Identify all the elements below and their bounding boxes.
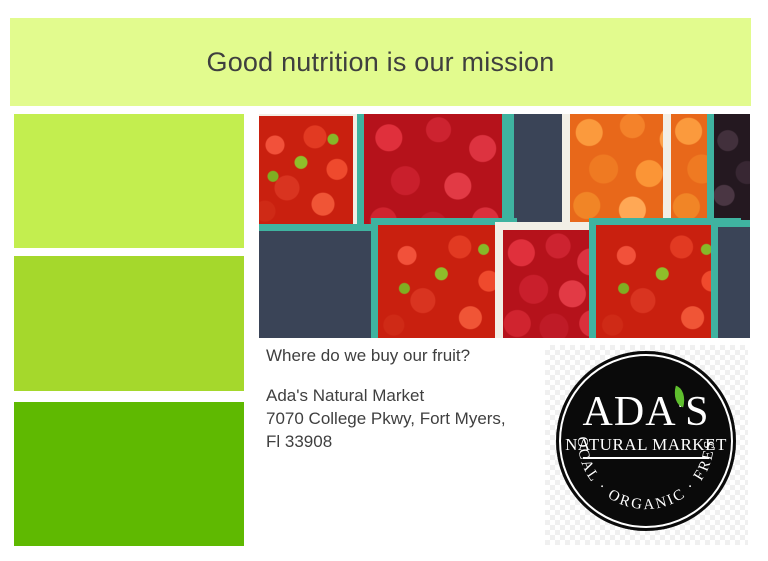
blackberry-basket-top-right bbox=[707, 114, 750, 232]
caption-question: Where do we buy our fruit? bbox=[266, 346, 546, 366]
fruit-market-photo bbox=[259, 114, 750, 338]
decorative-green-block-3 bbox=[14, 402, 244, 546]
page-title: Good nutrition is our mission bbox=[207, 47, 555, 78]
address-line-1: Ada's Natural Market bbox=[266, 384, 546, 407]
slide-title-banner: Good nutrition is our mission bbox=[10, 18, 751, 106]
address-line-3: Fl 33908 bbox=[266, 430, 546, 453]
address-line-2: 7070 College Pkwy, Fort Myers, bbox=[266, 407, 546, 430]
strawberry-basket-top-left bbox=[259, 114, 361, 240]
logo-transparency-background: ADA'S NATURAL MARKET LOCAL · ORGANIC · F… bbox=[545, 345, 748, 545]
blueberry-basket-bottom-far-right bbox=[711, 220, 750, 338]
svg-text:LOCAL · ORGANIC · FRESH: LOCAL · ORGANIC · FRESH bbox=[556, 351, 718, 513]
logo-arc-label: LOCAL · ORGANIC · FRESH bbox=[556, 351, 718, 513]
adas-natural-market-logo: ADA'S NATURAL MARKET LOCAL · ORGANIC · F… bbox=[556, 351, 736, 531]
decorative-green-block-2 bbox=[14, 256, 244, 391]
decorative-green-block-1 bbox=[14, 114, 244, 248]
logo-arc-text: LOCAL · ORGANIC · FRESH bbox=[556, 351, 736, 531]
blueberry-basket-bottom-left bbox=[259, 224, 381, 338]
caption-block: Where do we buy our fruit? Ada's Natural… bbox=[266, 346, 546, 453]
